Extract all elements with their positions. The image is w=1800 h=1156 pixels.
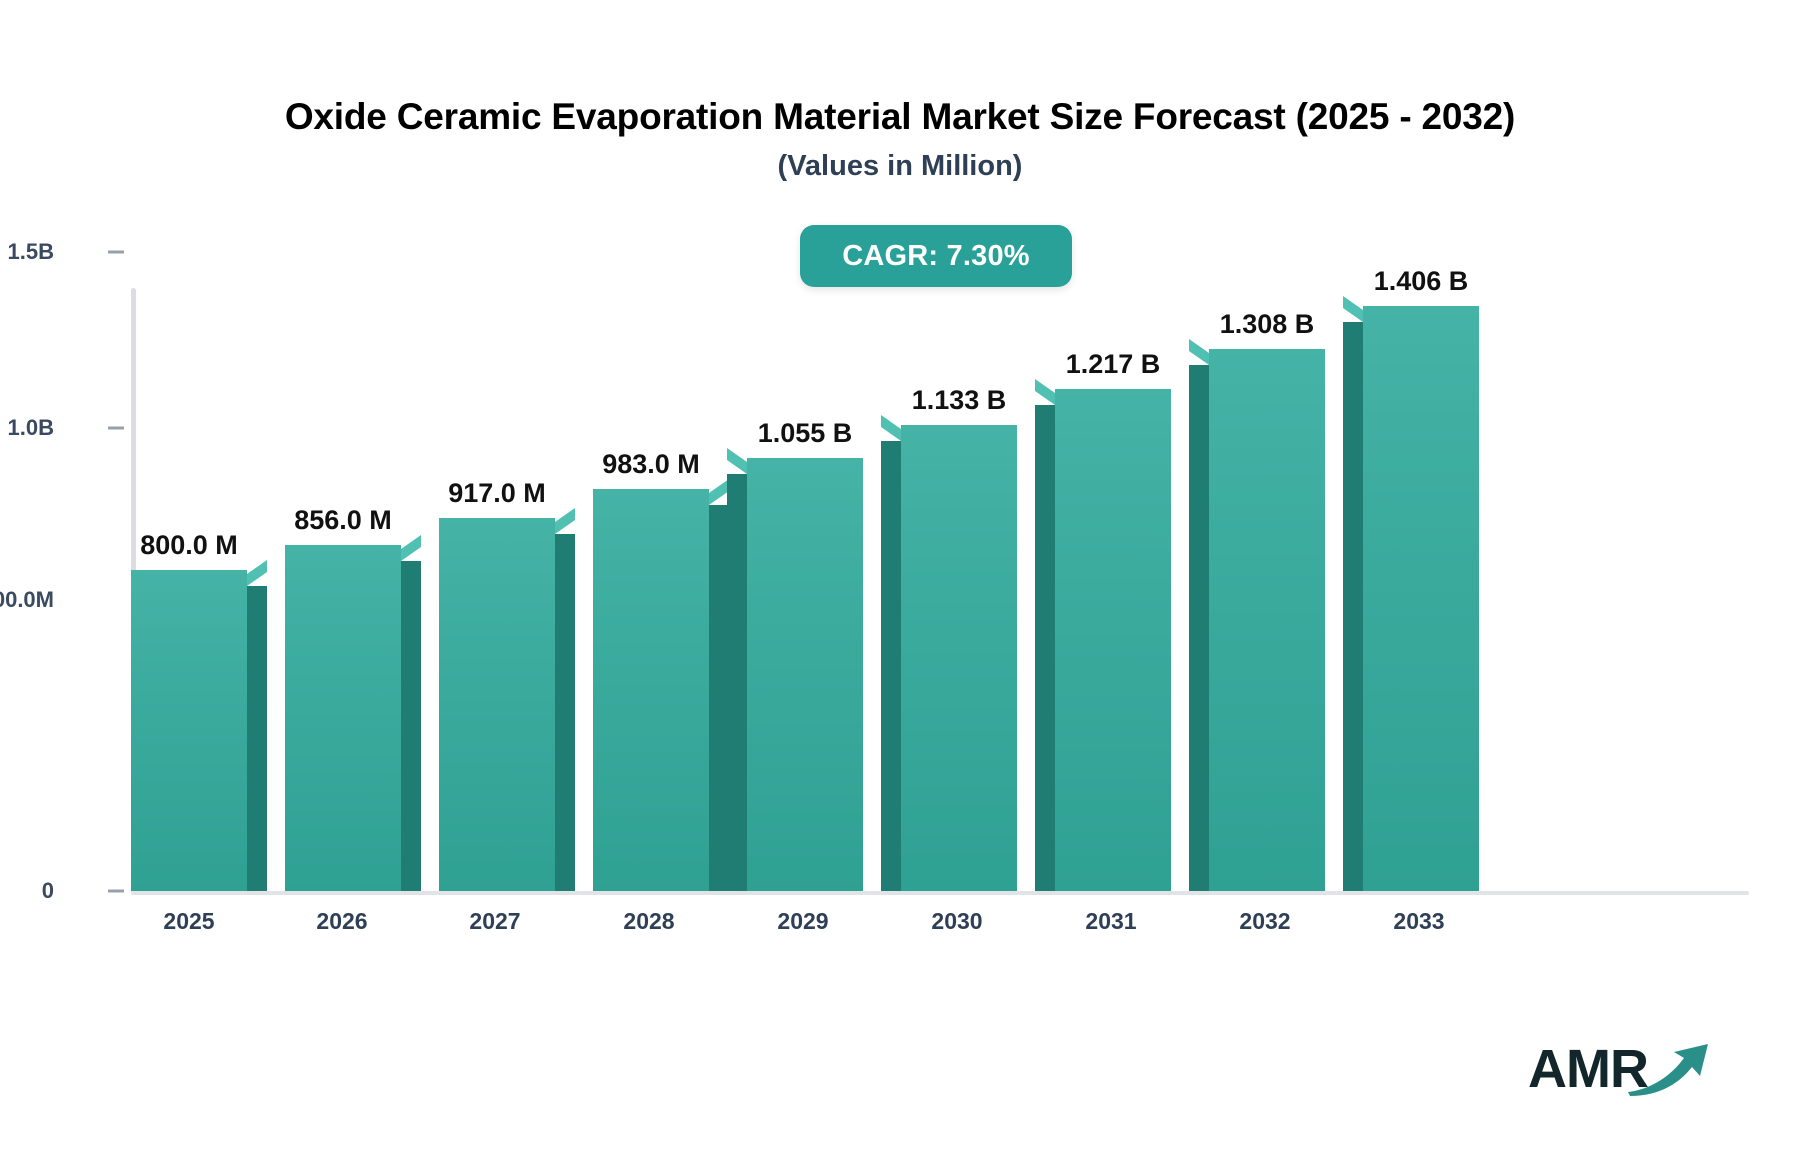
- bar-2031: [1055, 389, 1171, 891]
- bar-front-2028: [593, 489, 709, 891]
- bar-front-2026: [285, 545, 401, 891]
- bar-value-label-2030: 1.133 B: [912, 385, 1007, 416]
- bar-front-2032: [1209, 349, 1325, 891]
- bar-value-label-2032: 1.308 B: [1220, 309, 1315, 340]
- bar-front-2031: [1055, 389, 1171, 891]
- bar-2026: [285, 545, 401, 891]
- page-title: Oxide Ceramic Evaporation Material Marke…: [0, 96, 1800, 138]
- x-tick-label-2028: 2028: [623, 908, 674, 935]
- y-tick-label-0: 0: [42, 878, 54, 904]
- x-tick-label-2032: 2032: [1239, 908, 1290, 935]
- bar-side-2026: [401, 561, 421, 891]
- bar-value-label-2029: 1.055 B: [758, 418, 853, 449]
- bar-top-2025: [247, 560, 267, 586]
- amr-logo: AMR: [1528, 1036, 1708, 1100]
- bar-top-2030: [881, 415, 901, 441]
- bar-side-2029: [727, 474, 747, 891]
- bar-value-label-2033: 1.406 B: [1374, 266, 1469, 297]
- growth-arrow-icon: [1626, 1040, 1712, 1096]
- y-tick-label-1-5b: 1.5B: [8, 239, 54, 265]
- bar-2025: [131, 570, 247, 891]
- bar-front-2029: [747, 458, 863, 891]
- y-tick-mark-1-5b: [108, 251, 124, 254]
- y-tick-label-500m: 500.0M: [0, 587, 54, 613]
- bar-side-2030: [881, 441, 901, 891]
- cagr-badge: CAGR: 7.30%: [800, 225, 1072, 287]
- bar-value-label-2027: 917.0 M: [448, 478, 546, 509]
- chart-subtitle: (Values in Million): [0, 150, 1800, 183]
- bar-top-2027: [555, 508, 575, 534]
- bar-side-2025: [247, 586, 267, 891]
- x-tick-label-2025: 2025: [163, 908, 214, 935]
- bar-front-2033: [1363, 306, 1479, 891]
- bar-front-2030: [901, 425, 1017, 891]
- bar-2033: [1363, 306, 1479, 891]
- bar-side-2033: [1343, 322, 1363, 891]
- bar-value-label-2026: 856.0 M: [294, 505, 392, 536]
- bar-2029: [747, 458, 863, 891]
- bar-front-2027: [439, 518, 555, 891]
- bar-value-label-2031: 1.217 B: [1066, 349, 1161, 380]
- y-tick-label-1b: 1.0B: [8, 415, 54, 441]
- bar-2027: [439, 518, 555, 891]
- x-tick-label-2029: 2029: [777, 908, 828, 935]
- y-tick-mark-1b: [108, 427, 124, 430]
- bar-side-2031: [1035, 405, 1055, 891]
- bar-top-2032: [1189, 339, 1209, 365]
- bar-2028: [593, 489, 709, 891]
- bar-value-label-2028: 983.0 M: [602, 449, 700, 480]
- bar-2030: [901, 425, 1017, 891]
- y-tick-mark-0: [108, 890, 124, 893]
- x-tick-label-2026: 2026: [316, 908, 367, 935]
- bar-top-2029: [727, 448, 747, 474]
- bar-top-2031: [1035, 379, 1055, 405]
- x-axis-line: [131, 891, 1749, 895]
- x-tick-label-2033: 2033: [1393, 908, 1444, 935]
- bar-side-2027: [555, 534, 575, 891]
- bar-top-2033: [1343, 296, 1363, 322]
- bar-chart: Oxide Ceramic Evaporation Material Marke…: [0, 0, 1800, 1156]
- x-tick-label-2030: 2030: [931, 908, 982, 935]
- x-tick-label-2027: 2027: [469, 908, 520, 935]
- bar-2032: [1209, 349, 1325, 891]
- bar-front-2025: [131, 570, 247, 891]
- bar-top-2026: [401, 535, 421, 561]
- bar-side-2028: [709, 505, 729, 891]
- bar-top-2028: [709, 479, 729, 505]
- bar-value-label-2025: 800.0 M: [140, 530, 238, 561]
- bar-side-2032: [1189, 365, 1209, 891]
- x-tick-label-2031: 2031: [1085, 908, 1136, 935]
